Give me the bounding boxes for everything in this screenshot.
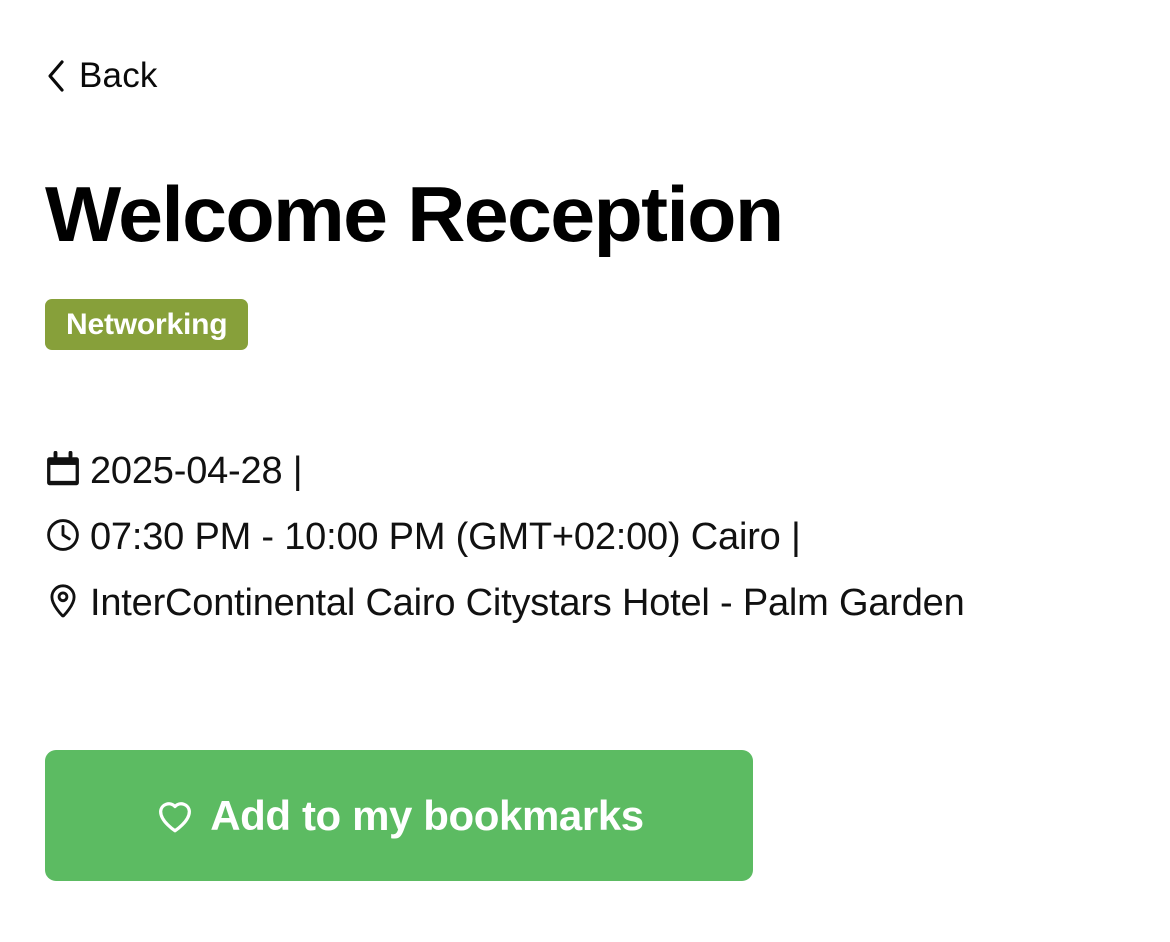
map-pin-icon: [45, 583, 81, 619]
event-date-line: 2025-04-28 |: [45, 438, 1115, 504]
page-title: Welcome Reception: [45, 172, 782, 256]
category-badge: Networking: [45, 299, 248, 350]
add-to-bookmarks-button[interactable]: Add to my bookmarks: [45, 750, 753, 881]
event-time-text: 07:30 PM - 10:00 PM (GMT+02:00) Cairo |: [90, 516, 801, 558]
add-to-bookmarks-label: Add to my bookmarks: [210, 795, 643, 837]
event-location-text: InterContinental Cairo Citystars Hotel -…: [90, 582, 965, 624]
event-date-text: 2025-04-28 |: [90, 450, 302, 492]
back-button[interactable]: Back: [45, 58, 158, 93]
chevron-left-icon: [45, 59, 67, 93]
event-time-line: 07:30 PM - 10:00 PM (GMT+02:00) Cairo |: [45, 504, 1115, 570]
event-detail-page: Back Welcome Reception Networking 2025-0…: [0, 0, 1170, 942]
back-label: Back: [79, 58, 158, 93]
heart-outline-icon: [154, 795, 196, 837]
calendar-icon: [45, 451, 81, 487]
event-meta: 2025-04-28 | 07:30 PM - 10:00 PM (GMT+02…: [45, 438, 1115, 636]
event-location-line: InterContinental Cairo Citystars Hotel -…: [45, 570, 1115, 636]
clock-icon: [45, 517, 81, 553]
